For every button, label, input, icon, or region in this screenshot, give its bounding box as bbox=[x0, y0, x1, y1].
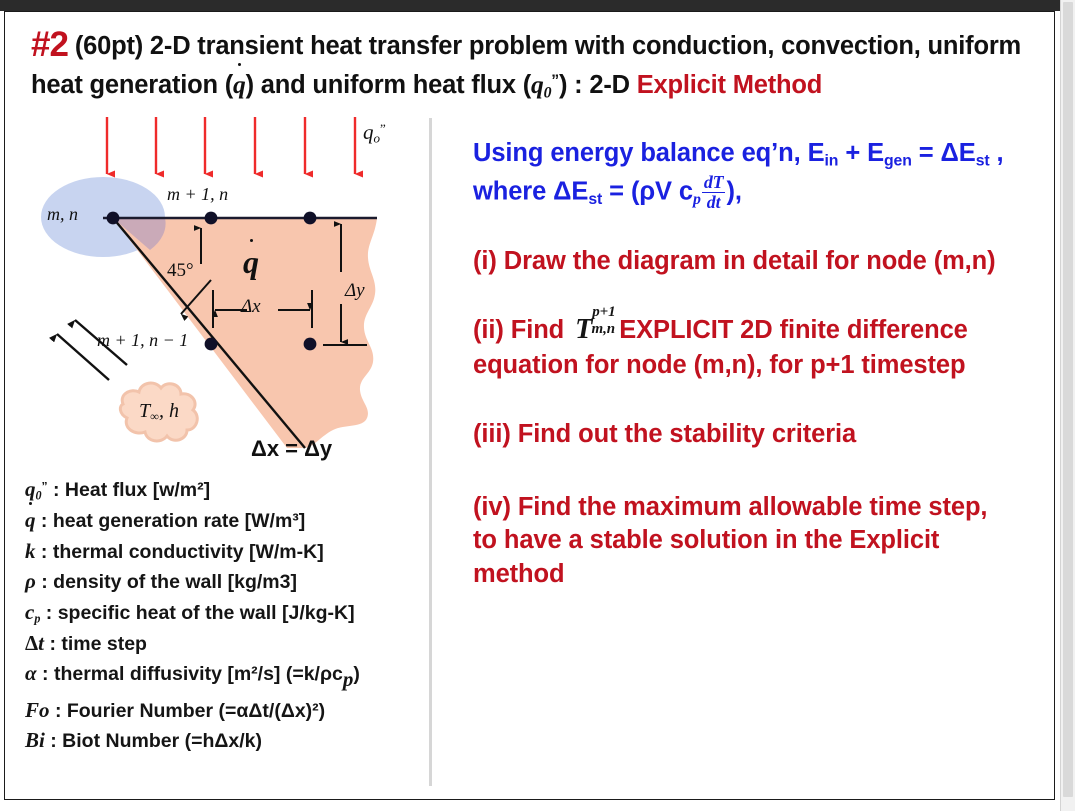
title-line-1-text: (60pt) 2-D transient heat transfer probl… bbox=[75, 32, 1021, 60]
question-ii: (ii) Find T p+1 m,n EXPLICIT 2D finite d… bbox=[473, 312, 1053, 382]
ambient-label: T∞, h bbox=[139, 400, 179, 424]
window-chrome-bar bbox=[0, 0, 1075, 11]
nomenclature-item-rho: ρ : density of the wall [kg/m3] bbox=[25, 566, 425, 597]
node-dot-m1n bbox=[205, 212, 218, 225]
nomenclature-item-qdot: q : heat generation rate [W/m³] bbox=[25, 505, 425, 536]
nomenclature-item-cp: cp : specific heat of the wall [J/kg-K] bbox=[25, 597, 425, 628]
energy-balance-line-2: where ΔEst = (ρV cp dT dt ), bbox=[473, 173, 1053, 211]
sym-fourier: Fo bbox=[25, 698, 50, 722]
node-label-m1n: m + 1, n bbox=[167, 184, 228, 205]
nomenclature-item-q0: q0” : Heat flux [w/m²] bbox=[25, 474, 425, 505]
nomenclature-item-alpha: α : thermal diffusivity [m²/s] (=k/ρcp) bbox=[25, 658, 425, 694]
question-iii: (iii) Find out the stability criteria bbox=[473, 418, 1053, 451]
nomenclature-item-k: k : thermal conductivity [W/m-K] bbox=[25, 536, 425, 567]
title-line-2-a: heat generation ( bbox=[31, 71, 233, 99]
heat-flux-arrows bbox=[107, 117, 355, 174]
question-ii-line-1: (ii) Find T p+1 m,n EXPLICIT 2D finite d… bbox=[473, 312, 1053, 349]
sym-biot: Bi bbox=[25, 728, 45, 752]
energy-balance-line-1: Using energy balance eq’n, Ein + Egen = … bbox=[473, 135, 1053, 173]
qdot-symbol: q bbox=[233, 68, 246, 101]
sym-cp: c bbox=[25, 600, 34, 624]
scrollbar-thumb[interactable] bbox=[1063, 2, 1073, 797]
desc-q0: : Heat flux [w/m²] bbox=[53, 479, 210, 501]
question-iv-line-3: method bbox=[473, 558, 1053, 591]
desc-fourier: : Fourier Number (=αΔt/(Δx)²) bbox=[55, 700, 325, 722]
title-line-1: #2 (60pt) 2-D transient heat transfer pr… bbox=[31, 22, 1031, 68]
sym-k: k bbox=[25, 539, 36, 563]
flux-label-q0: qo” bbox=[363, 120, 386, 147]
questions-panel: Using energy balance eq’n, Ein + Egen = … bbox=[473, 135, 1053, 591]
delta-equality-label: Δx = Δy bbox=[251, 436, 332, 462]
title-line-2: heat generation (q) and uniform heat flu… bbox=[31, 68, 1031, 104]
desc-alpha: : thermal diffusivity [m²/s] (=k/ρc bbox=[42, 663, 343, 685]
desc-rho: : density of the wall [kg/m3] bbox=[41, 571, 297, 593]
question-ii-line-2: equation for node (m,n), for p+1 timeste… bbox=[473, 349, 1053, 382]
column-divider bbox=[429, 118, 432, 786]
heat-transfer-diagram: qo” m, n m + 1, n m + 1, n − 1 45° q Δx … bbox=[15, 112, 425, 462]
title-line-2-c: ) : 2-D bbox=[559, 71, 637, 99]
desc-k: : thermal conductivity [W/m-K] bbox=[41, 541, 324, 563]
node-label-mn: m, n bbox=[47, 204, 78, 225]
sym-rho: ρ bbox=[25, 569, 36, 593]
node-dot-m1n-1 bbox=[205, 338, 218, 351]
sym-qdot: q bbox=[25, 505, 36, 536]
energy-balance-statement: Using energy balance eq’n, Ein + Egen = … bbox=[473, 135, 1053, 211]
nomenclature-list: q0” : Heat flux [w/m²] q : heat generati… bbox=[25, 474, 425, 756]
sym-q0: q bbox=[25, 477, 36, 501]
sym-delta-t: Δt bbox=[25, 631, 44, 655]
problem-number: #2 bbox=[31, 25, 68, 64]
node-dot-mn bbox=[107, 212, 120, 225]
nomenclature-item-bi: Bi : Biot Number (=hΔx/k) bbox=[25, 725, 425, 756]
question-iv-line-1: (iv) Find the maximum allowable time ste… bbox=[473, 491, 1053, 524]
node-label-m1n-1: m + 1, n − 1 bbox=[97, 330, 188, 351]
desc-biot: : Biot Number (=hΔx/k) bbox=[50, 730, 262, 752]
slide-canvas: #2 (60pt) 2-D transient heat transfer pr… bbox=[4, 11, 1055, 800]
vertical-scrollbar[interactable] bbox=[1060, 0, 1075, 811]
nomenclature-item-dt: Δt : time step bbox=[25, 628, 425, 659]
node-dot-m2n-1 bbox=[304, 338, 317, 351]
screenshot-root: #2 (60pt) 2-D transient heat transfer pr… bbox=[0, 0, 1075, 811]
title-explicit-method: Explicit Method bbox=[637, 71, 822, 99]
heat-generation-label: q bbox=[243, 244, 259, 281]
desc-delta-t: : time step bbox=[49, 633, 147, 655]
question-iv: (iv) Find the maximum allowable time ste… bbox=[473, 491, 1053, 590]
title-line-2-b: ) and uniform heat flux ( bbox=[246, 71, 531, 99]
node-dot-m2n bbox=[304, 212, 317, 225]
desc-qdot: : heat generation rate [W/m³] bbox=[41, 510, 305, 532]
dT-dt-fraction: dT dt bbox=[702, 173, 726, 211]
delta-x-label: Δx bbox=[241, 296, 261, 318]
delta-y-label: Δy bbox=[345, 280, 365, 302]
question-iv-line-2: to have a stable solution in the Explici… bbox=[473, 524, 1053, 557]
question-i: (i) Draw the diagram in detail for node … bbox=[473, 245, 1053, 278]
q0-superscript: ” bbox=[551, 72, 559, 89]
desc-cp: : specific heat of the wall [J/kg-K] bbox=[46, 602, 355, 624]
angle-label-45deg: 45° bbox=[167, 260, 194, 282]
sym-alpha: α bbox=[25, 661, 37, 685]
page-title: #2 (60pt) 2-D transient heat transfer pr… bbox=[31, 22, 1031, 103]
temperature-symbol-Tmn-p1: T p+1 m,n bbox=[575, 312, 592, 349]
q0-symbol: q bbox=[531, 70, 544, 99]
nomenclature-item-fo: Fo : Fourier Number (=αΔt/(Δx)²) bbox=[25, 695, 425, 726]
